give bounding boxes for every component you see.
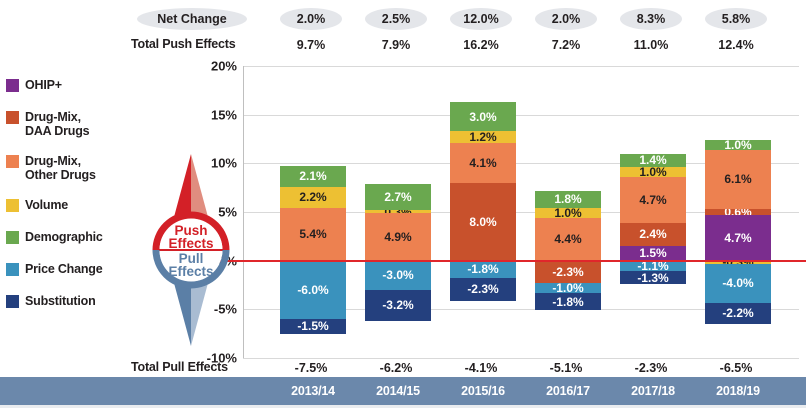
y-axis-line [243, 66, 244, 358]
plot-area: 20%15%10%5%0%-5%-10%5.4%2.2%2.1%-6.0%-1.… [243, 66, 799, 358]
total-push-value: 12.4% [705, 36, 767, 54]
bar-segment-label: 3.0% [469, 110, 496, 124]
bar-segment-label: 2.1% [299, 169, 326, 183]
bar-segment[interactable]: 0.6% [705, 209, 771, 215]
push-pull-arrow-icon: Push Effects Pull Effects [150, 150, 232, 350]
bar-segment-label: -1.5% [297, 319, 328, 333]
bar-segment-label: -1.8% [467, 262, 498, 276]
legend-item-label: OHIP+ [25, 78, 62, 92]
legend-swatch-icon [6, 263, 19, 276]
bar-segment[interactable]: -4.0% [705, 264, 771, 303]
bar-column[interactable]: 5.4%2.2%2.1%-6.0%-1.5% [280, 66, 346, 358]
y-axis-tick-label: 20% [211, 59, 237, 74]
bar-segment-label: 2.4% [639, 227, 666, 241]
bar-segment[interactable]: 4.1% [450, 143, 516, 183]
bar-segment[interactable]: -1.5% [280, 319, 346, 334]
bar-segment[interactable]: 4.7% [620, 177, 686, 223]
bar-segment-label: -1.0% [552, 283, 583, 293]
bar-segment[interactable]: -1.1% [620, 261, 686, 272]
chart-root: Net Change 2.0% 2.5% 12.0% 2.0% 8.3% 5.8… [0, 0, 806, 414]
legend-swatch-icon [6, 155, 19, 168]
total-push-label: Total Push Effects [131, 37, 236, 51]
legend-swatch-icon [6, 79, 19, 92]
year-label: 2015/16 [450, 377, 516, 405]
legend-item-label: Demographic [25, 230, 103, 244]
bar-segment-label: -2.2% [722, 306, 753, 320]
bar-segment-label: 1.5% [639, 246, 666, 260]
net-change-value: 2.0% [535, 8, 597, 30]
total-pull-label: Total Pull Effects [131, 360, 228, 374]
bar-segment-label: -3.2% [382, 298, 413, 312]
total-pull-value: -6.5% [705, 359, 767, 377]
bar-column[interactable]: 1.5%2.4%4.7%1.0%1.4%-1.1%-1.3% [620, 66, 686, 358]
bar-segment[interactable]: 1.4% [620, 154, 686, 168]
total-push-value: 9.7% [280, 36, 342, 54]
bar-segment[interactable]: -3.0% [365, 261, 431, 290]
net-change-value: 8.3% [620, 8, 682, 30]
total-pull-value: -5.1% [535, 359, 597, 377]
total-pull-value: -6.2% [365, 359, 427, 377]
year-label: 2013/14 [280, 377, 346, 405]
bar-segment-label: 1.0% [724, 140, 751, 150]
net-change-value: 5.8% [705, 8, 767, 30]
total-pull-value: -7.5% [280, 359, 342, 377]
legend-swatch-icon [6, 295, 19, 308]
legend-item-label: Substitution [25, 294, 96, 308]
bar-segment[interactable]: -1.0% [535, 283, 601, 293]
bar-segment-label: 1.0% [554, 208, 581, 218]
legend-item[interactable]: OHIP+ [6, 78, 62, 92]
total-push-value: 16.2% [450, 36, 512, 54]
bar-segment[interactable]: 4.4% [535, 218, 601, 261]
legend-item-label: Drug-Mix,DAA Drugs [25, 110, 89, 138]
bar-segment[interactable]: -6.0% [280, 261, 346, 319]
bar-segment-label: -3.0% [382, 268, 413, 282]
bar-column[interactable]: 8.0%4.1%1.2%3.0%-1.8%-2.3% [450, 66, 516, 358]
total-push-value: 7.2% [535, 36, 597, 54]
bar-segment-label: 0.3% [384, 210, 411, 213]
net-change-value: 2.0% [280, 8, 342, 30]
legend-item-label: Volume [25, 198, 68, 212]
legend-item[interactable]: Drug-Mix,Other Drugs [6, 154, 96, 182]
bar-segment-label: -1.3% [637, 271, 668, 284]
legend-item[interactable]: Volume [6, 198, 68, 212]
bar-segment-label: -1.8% [552, 295, 583, 309]
bar-segment[interactable]: 3.0% [450, 102, 516, 131]
net-change-value: 12.0% [450, 8, 512, 30]
net-change-pill-label: Net Change [137, 8, 247, 30]
bar-column[interactable]: 4.9%0.3%2.7%-3.0%-3.2% [365, 66, 431, 358]
bar-segment[interactable]: -2.3% [535, 261, 601, 283]
bar-segment-label: -4.0% [722, 276, 753, 290]
bar-segment-label: 2.2% [299, 190, 326, 204]
bar-column[interactable]: 4.7%0.6%6.1%-0.3%1.0%-4.0%-2.2% [705, 66, 771, 358]
legend-item[interactable]: Demographic [6, 230, 103, 244]
legend-swatch-icon [6, 111, 19, 124]
push-effects-line2: Effects [168, 236, 213, 251]
push-pull-emblem: Push Effects Pull Effects [150, 150, 232, 350]
legend-item-label: Drug-Mix,Other Drugs [25, 154, 96, 182]
bar-segment[interactable]: 1.2% [450, 131, 516, 143]
bar-segment[interactable]: 2.4% [620, 223, 686, 246]
legend-swatch-icon [6, 231, 19, 244]
year-band-shadow [0, 405, 806, 408]
pull-effects-line2: Effects [168, 264, 213, 279]
bar-segment[interactable]: 0.3% [365, 210, 431, 213]
bar-segment-label: 4.7% [639, 193, 666, 207]
total-push-value: 11.0% [620, 36, 682, 54]
bar-segment[interactable]: -1.3% [620, 271, 686, 284]
bar-segment[interactable]: 2.1% [280, 166, 346, 186]
bar-segment[interactable]: -3.2% [365, 290, 431, 321]
legend-item[interactable]: Price Change [6, 262, 103, 276]
bar-segment[interactable]: -2.2% [705, 303, 771, 324]
legend-item[interactable]: Substitution [6, 294, 96, 308]
bar-segment-label: 5.4% [299, 227, 326, 241]
bar-segment-label: -1.1% [637, 261, 668, 272]
bar-segment[interactable]: -2.3% [450, 278, 516, 300]
bar-segment-label: 2.7% [384, 190, 411, 204]
legend-item-label: Price Change [25, 262, 103, 276]
bar-segment-label: -2.3% [552, 265, 583, 279]
net-change-value: 2.5% [365, 8, 427, 30]
bar-segment[interactable]: 6.1% [705, 150, 771, 209]
total-pull-value: -4.1% [450, 359, 512, 377]
bar-segment[interactable]: 4.9% [365, 213, 431, 261]
bar-segment-label: -2.3% [467, 282, 498, 296]
bar-segment-label: 1.8% [554, 192, 581, 206]
bar-segment-label: 1.0% [639, 167, 666, 177]
y-axis-tick-label: 15% [211, 107, 237, 122]
year-label: 2018/19 [705, 377, 771, 405]
bar-segment[interactable]: 1.5% [620, 246, 686, 261]
legend-swatch-icon [6, 199, 19, 212]
bar-segment[interactable]: 2.2% [280, 187, 346, 208]
year-label: 2014/15 [365, 377, 431, 405]
bar-segment-label: -6.0% [297, 283, 328, 297]
bar-segment[interactable]: 5.4% [280, 208, 346, 261]
bar-segment-label: 0.6% [724, 209, 751, 215]
bar-segment[interactable]: -1.8% [535, 293, 601, 311]
bar-segment-label: 1.2% [469, 131, 496, 143]
bar-segment-label: 8.0% [469, 215, 496, 229]
bar-segment[interactable]: 1.0% [620, 167, 686, 177]
bar-segment-label: 4.4% [554, 232, 581, 246]
net-change-label: Net Change [157, 12, 226, 26]
zero-axis-line [195, 260, 806, 263]
total-pull-value: -2.3% [620, 359, 682, 377]
bar-column[interactable]: -2.3%4.4%1.0%1.8%-1.0%-1.8% [535, 66, 601, 358]
bar-segment-label: 4.1% [469, 156, 496, 170]
bar-segment-label: 6.1% [724, 172, 751, 186]
bar-segment-label: 1.4% [639, 154, 666, 168]
bar-segment[interactable]: 1.0% [535, 208, 601, 218]
year-label: 2017/18 [620, 377, 686, 405]
bar-segment[interactable]: 1.0% [705, 140, 771, 150]
bar-segment-label: 4.7% [724, 231, 751, 245]
bar-segment[interactable]: -1.8% [450, 261, 516, 279]
bar-segment[interactable]: 1.8% [535, 191, 601, 209]
bar-segment[interactable]: 2.7% [365, 184, 431, 210]
legend-item[interactable]: Drug-Mix,DAA Drugs [6, 110, 89, 138]
total-push-value: 7.9% [365, 36, 427, 54]
year-label: 2016/17 [535, 377, 601, 405]
bar-segment-label: 4.9% [384, 230, 411, 244]
bar-segment[interactable]: 8.0% [450, 183, 516, 261]
bar-segment[interactable]: 4.7% [705, 215, 771, 261]
